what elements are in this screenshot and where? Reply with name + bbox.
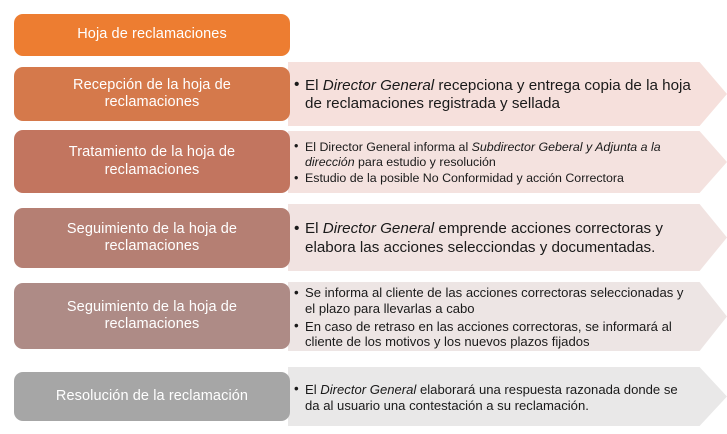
body-text: El Director General informa al bbox=[305, 140, 472, 154]
emphasis-text: Director General bbox=[320, 382, 416, 397]
body-text: Se informa al cliente de las acciones co… bbox=[305, 285, 683, 316]
bullet-item: El Director General elaborará una respue… bbox=[294, 382, 692, 413]
stage-box-1[interactable]: Hoja de reclamaciones bbox=[14, 14, 290, 56]
callout-arrow-3: El Director General informa al Subdirect… bbox=[288, 131, 727, 193]
callout-text-3: El Director General informa al Subdirect… bbox=[288, 131, 692, 193]
callout-arrow-5: Se informa al cliente de las acciones co… bbox=[288, 282, 727, 351]
stage-label-1: Hoja de reclamaciones bbox=[28, 26, 276, 43]
bullet-item: En caso de retraso en las acciones corre… bbox=[294, 319, 692, 350]
bullet-item: El Director General recepciona y entrega… bbox=[294, 77, 692, 113]
stage-label-2: Recepción de la hoja de reclamaciones bbox=[28, 77, 276, 111]
stage-box-6[interactable]: Resolución de la reclamación bbox=[14, 372, 290, 421]
stage-label-5: Seguimiento de la hoja de reclamaciones bbox=[28, 299, 276, 333]
emphasis-text: Director General bbox=[323, 77, 434, 94]
stage-box-3[interactable]: Tratamiento de la hoja de reclamaciones bbox=[14, 130, 290, 193]
body-text: El bbox=[305, 77, 323, 94]
bullet-item: Estudio de la posible No Conformidad y a… bbox=[294, 171, 692, 186]
stage-label-3: Tratamiento de la hoja de reclamaciones bbox=[28, 144, 276, 178]
bullet-item: El Director General informa al Subdirect… bbox=[294, 140, 692, 170]
stage-label-6: Resolución de la reclamación bbox=[28, 388, 276, 405]
body-text: En caso de retraso en las acciones corre… bbox=[305, 319, 672, 350]
callout-arrow-6: El Director General elaborará una respue… bbox=[288, 367, 727, 426]
callout-text-2: El Director General recepciona y entrega… bbox=[288, 62, 692, 126]
bullet-item: El Director General emprende acciones co… bbox=[294, 220, 692, 256]
stage-label-4: Seguimiento de la hoja de reclamaciones bbox=[28, 221, 276, 255]
process-flow-diagram: Hoja de reclamacionesEl Director General… bbox=[0, 0, 727, 434]
callout-text-6: El Director General elaborará una respue… bbox=[288, 367, 692, 426]
stage-box-5[interactable]: Seguimiento de la hoja de reclamaciones bbox=[14, 283, 290, 349]
stage-box-4[interactable]: Seguimiento de la hoja de reclamaciones bbox=[14, 208, 290, 268]
stage-box-2[interactable]: Recepción de la hoja de reclamaciones bbox=[14, 67, 290, 121]
body-text: para estudio y resolución bbox=[355, 155, 496, 169]
body-text: Estudio de la posible No Conformidad y a… bbox=[305, 171, 624, 185]
callout-arrow-2: El Director General recepciona y entrega… bbox=[288, 62, 727, 126]
callout-text-5: Se informa al cliente de las acciones co… bbox=[288, 282, 692, 351]
body-text: El bbox=[305, 220, 323, 237]
callout-text-4: El Director General emprende acciones co… bbox=[288, 204, 692, 271]
body-text: El bbox=[305, 382, 320, 397]
callout-arrow-4: El Director General emprende acciones co… bbox=[288, 204, 727, 271]
bullet-item: Se informa al cliente de las acciones co… bbox=[294, 285, 692, 316]
emphasis-text: Director General bbox=[323, 220, 434, 237]
